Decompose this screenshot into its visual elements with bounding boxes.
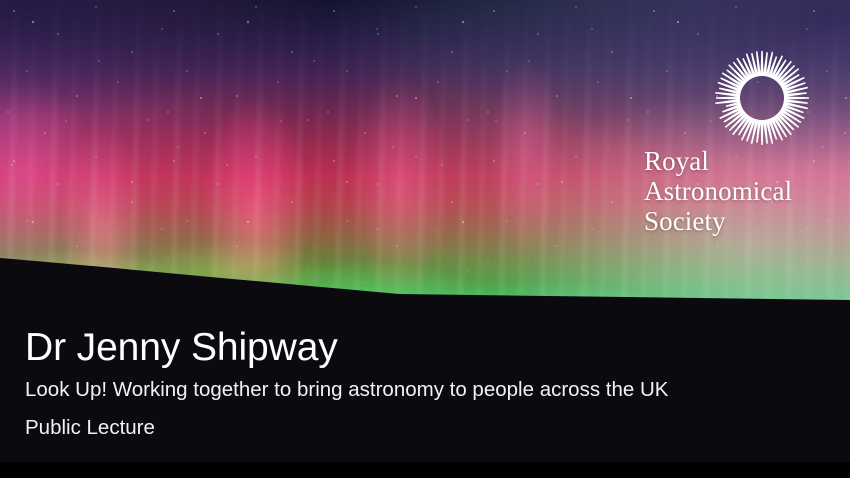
speaker-name: Dr Jenny Shipway [25,326,830,370]
ras-logo-line-1: Royal [644,146,844,176]
event-type: Public Lecture [25,413,830,443]
ras-logo-line-3: Society [644,206,844,236]
ras-sunburst-icon [712,48,812,148]
caption-text-block: Dr Jenny Shipway Look Up! Working togeth… [25,326,830,443]
ras-logo-wordmark: Royal Astronomical Society [644,146,844,236]
ras-logo: Royal Astronomical Society [640,48,840,233]
talk-title: Look Up! Working together to bring astro… [25,375,830,405]
title-slide: Royal Astronomical Society Dr Jenny Ship… [0,0,850,478]
caption-band: Dr Jenny Shipway Look Up! Working togeth… [0,300,850,478]
ras-logo-line-2: Astronomical [644,176,844,206]
